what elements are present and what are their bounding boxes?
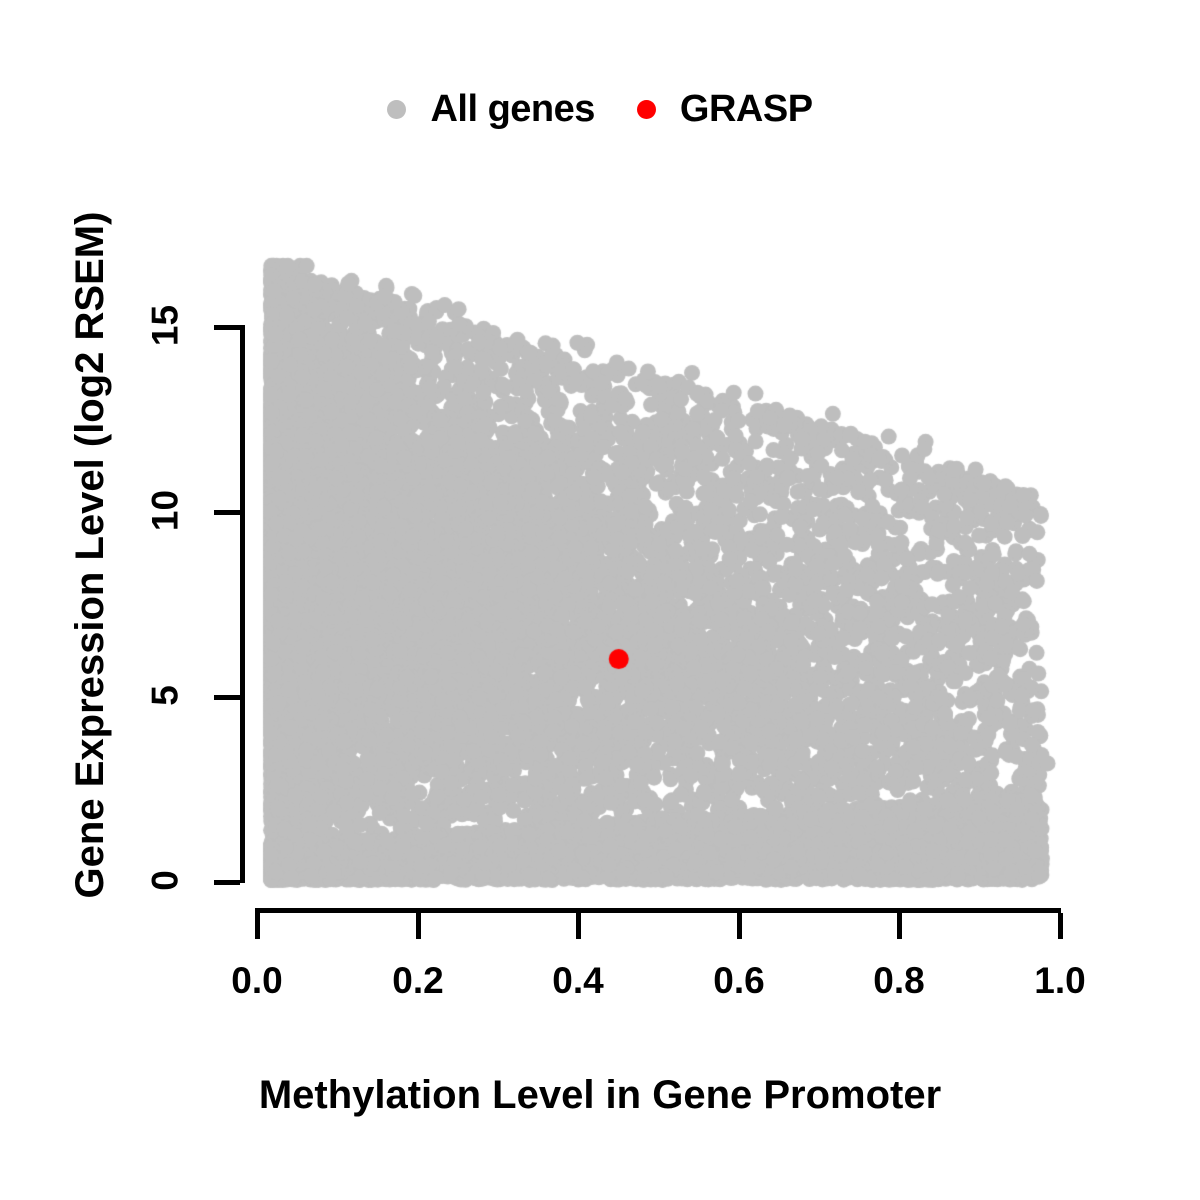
- legend-dot-red-icon: [637, 100, 656, 119]
- legend-dot-gray-icon: [387, 100, 406, 119]
- x-tick-label-0.0: 0.0: [197, 962, 317, 999]
- y-axis-title: Gene Expression Level (log2 RSEM): [70, 155, 110, 955]
- scatter-points-canvas: [245, 240, 1070, 900]
- x-tick-0.2: [416, 913, 421, 939]
- chart-legend: All genes GRASP: [0, 78, 1200, 140]
- legend-label-grasp: GRASP: [680, 90, 813, 128]
- y-tick-15: [214, 325, 240, 330]
- y-tick-label-0: 0: [147, 836, 184, 926]
- x-tick-label-0.4: 0.4: [518, 962, 638, 999]
- x-tick-label-1.0: 1.0: [1000, 962, 1120, 999]
- x-tick-1.0: [1058, 913, 1063, 939]
- y-axis-line: [240, 325, 245, 883]
- scatter-plot-figure: All genes GRASP 15 10 5 0 0.0 0.2 0.4 0.…: [0, 0, 1200, 1200]
- legend-entry-all-genes: All genes: [387, 90, 594, 128]
- y-tick-label-5: 5: [147, 651, 184, 741]
- legend-entry-grasp: GRASP: [637, 90, 813, 128]
- x-tick-0.6: [737, 913, 742, 939]
- y-tick-10: [214, 510, 240, 515]
- plot-area: [245, 240, 1070, 900]
- x-tick-label-0.6: 0.6: [679, 962, 799, 999]
- x-tick-0.4: [576, 913, 581, 939]
- y-tick-5: [214, 695, 240, 700]
- y-tick-label-15: 15: [147, 281, 184, 371]
- legend-label-all-genes: All genes: [430, 90, 594, 128]
- x-tick-0.8: [897, 913, 902, 939]
- y-tick-label-10: 10: [147, 466, 184, 556]
- x-tick-0.0: [255, 913, 260, 939]
- x-tick-label-0.8: 0.8: [839, 962, 959, 999]
- x-tick-label-0.2: 0.2: [358, 962, 478, 999]
- y-tick-0: [214, 880, 240, 885]
- x-axis-title: Methylation Level in Gene Promoter: [0, 1075, 1200, 1115]
- x-axis-line: [255, 908, 1061, 913]
